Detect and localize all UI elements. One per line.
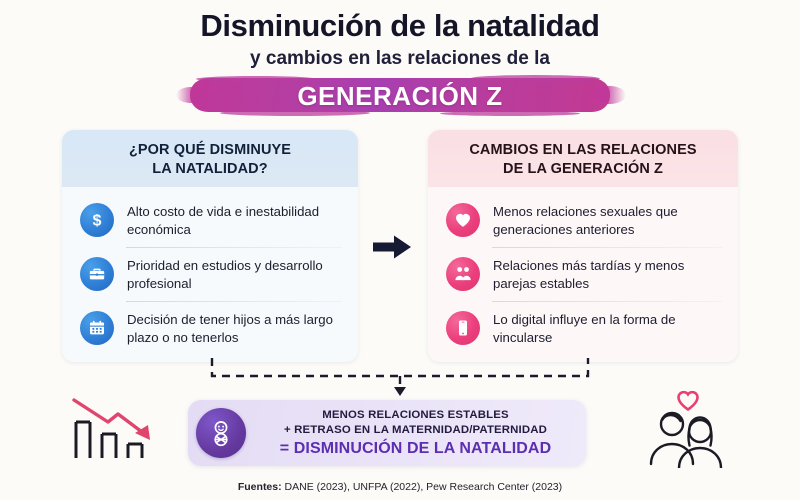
- left-panel-heading: ¿POR QUÉ DISMINUYE LA NATALIDAD?: [62, 130, 358, 187]
- dashed-connector: [190, 358, 610, 406]
- left-panel-body: $ Alto costo de vida e inestabilidad eco…: [62, 187, 358, 359]
- sources-label: Fuentes:: [238, 481, 282, 493]
- list-item-label: Menos relaciones sexuales que generacion…: [493, 202, 724, 238]
- panel-why-birthrate-declines: ¿POR QUÉ DISMINUYE LA NATALIDAD? $ Alto …: [62, 130, 358, 362]
- page-title: Disminución de la natalidad: [0, 8, 800, 44]
- briefcase-icon: [80, 257, 114, 291]
- left-panel-heading-line2: LA NATALIDAD?: [74, 160, 346, 179]
- left-panel-heading-line1: ¿POR QUÉ DISMINUYE: [74, 141, 346, 160]
- couple-with-heart-icon: [632, 386, 744, 468]
- sources-footer: Fuentes: DANE (2023), UNFPA (2022), Pew …: [0, 481, 800, 493]
- infographic-root: Disminución de la natalidad y cambios en…: [0, 0, 800, 500]
- baby-icon: [196, 408, 246, 458]
- summary-result: = DISMINUCIÓN DE LA NATALIDAD: [257, 440, 574, 458]
- list-item: Menos relaciones sexuales que generacion…: [440, 193, 726, 247]
- sources-text: DANE (2023), UNFPA (2022), Pew Research …: [282, 481, 563, 493]
- list-item: Prioridad en estudios y desarrollo profe…: [74, 247, 346, 301]
- summary-line-2: + RETRASO EN LA MATERNIDAD/PATERNIDAD: [257, 423, 574, 438]
- list-item-label: Lo digital influye en la forma de vincul…: [493, 310, 724, 346]
- declining-bar-chart-icon: [62, 392, 182, 464]
- list-item-label: Relaciones más tardías y menos parejas e…: [493, 256, 724, 292]
- people-icon: [446, 257, 480, 291]
- summary-box: MENOS RELACIONES ESTABLES + RETRASO EN L…: [188, 400, 586, 466]
- right-panel-heading: CAMBIOS EN LAS RELACIONES DE LA GENERACI…: [428, 130, 738, 187]
- list-item: Relaciones más tardías y menos parejas e…: [440, 247, 726, 301]
- right-panel-heading-line1: CAMBIOS EN LAS RELACIONES: [440, 141, 726, 160]
- list-item: $ Alto costo de vida e inestabilidad eco…: [74, 193, 346, 247]
- smartphone-icon: [446, 311, 480, 345]
- generation-banner-label: GENERACIÓN Z: [190, 74, 610, 118]
- summary-text: MENOS RELACIONES ESTABLES + RETRASO EN L…: [257, 408, 574, 459]
- heart-icon: [446, 203, 480, 237]
- calendar-icon: [80, 311, 114, 345]
- list-item-label: Alto costo de vida e inestabilidad econó…: [127, 202, 344, 238]
- list-item-label: Decisión de tener hijos a más largo plaz…: [127, 310, 344, 346]
- right-panel-heading-line2: DE LA GENERACIÓN Z: [440, 160, 726, 179]
- list-item: Lo digital influye en la forma de vincul…: [440, 301, 726, 355]
- right-panel-body: Menos relaciones sexuales que generacion…: [428, 187, 738, 359]
- dollar-icon: $: [80, 203, 114, 237]
- svg-text:$: $: [93, 213, 102, 230]
- generation-banner: GENERACIÓN Z: [190, 74, 610, 118]
- panel-genz-relationship-changes: CAMBIOS EN LAS RELACIONES DE LA GENERACI…: [428, 130, 738, 362]
- arrow-right-icon: [370, 228, 414, 266]
- page-subtitle: y cambios en las relaciones de la: [0, 48, 800, 70]
- list-item: Decisión de tener hijos a más largo plaz…: [74, 301, 346, 355]
- summary-line-1: MENOS RELACIONES ESTABLES: [257, 408, 574, 423]
- list-item-label: Prioridad en estudios y desarrollo profe…: [127, 256, 344, 292]
